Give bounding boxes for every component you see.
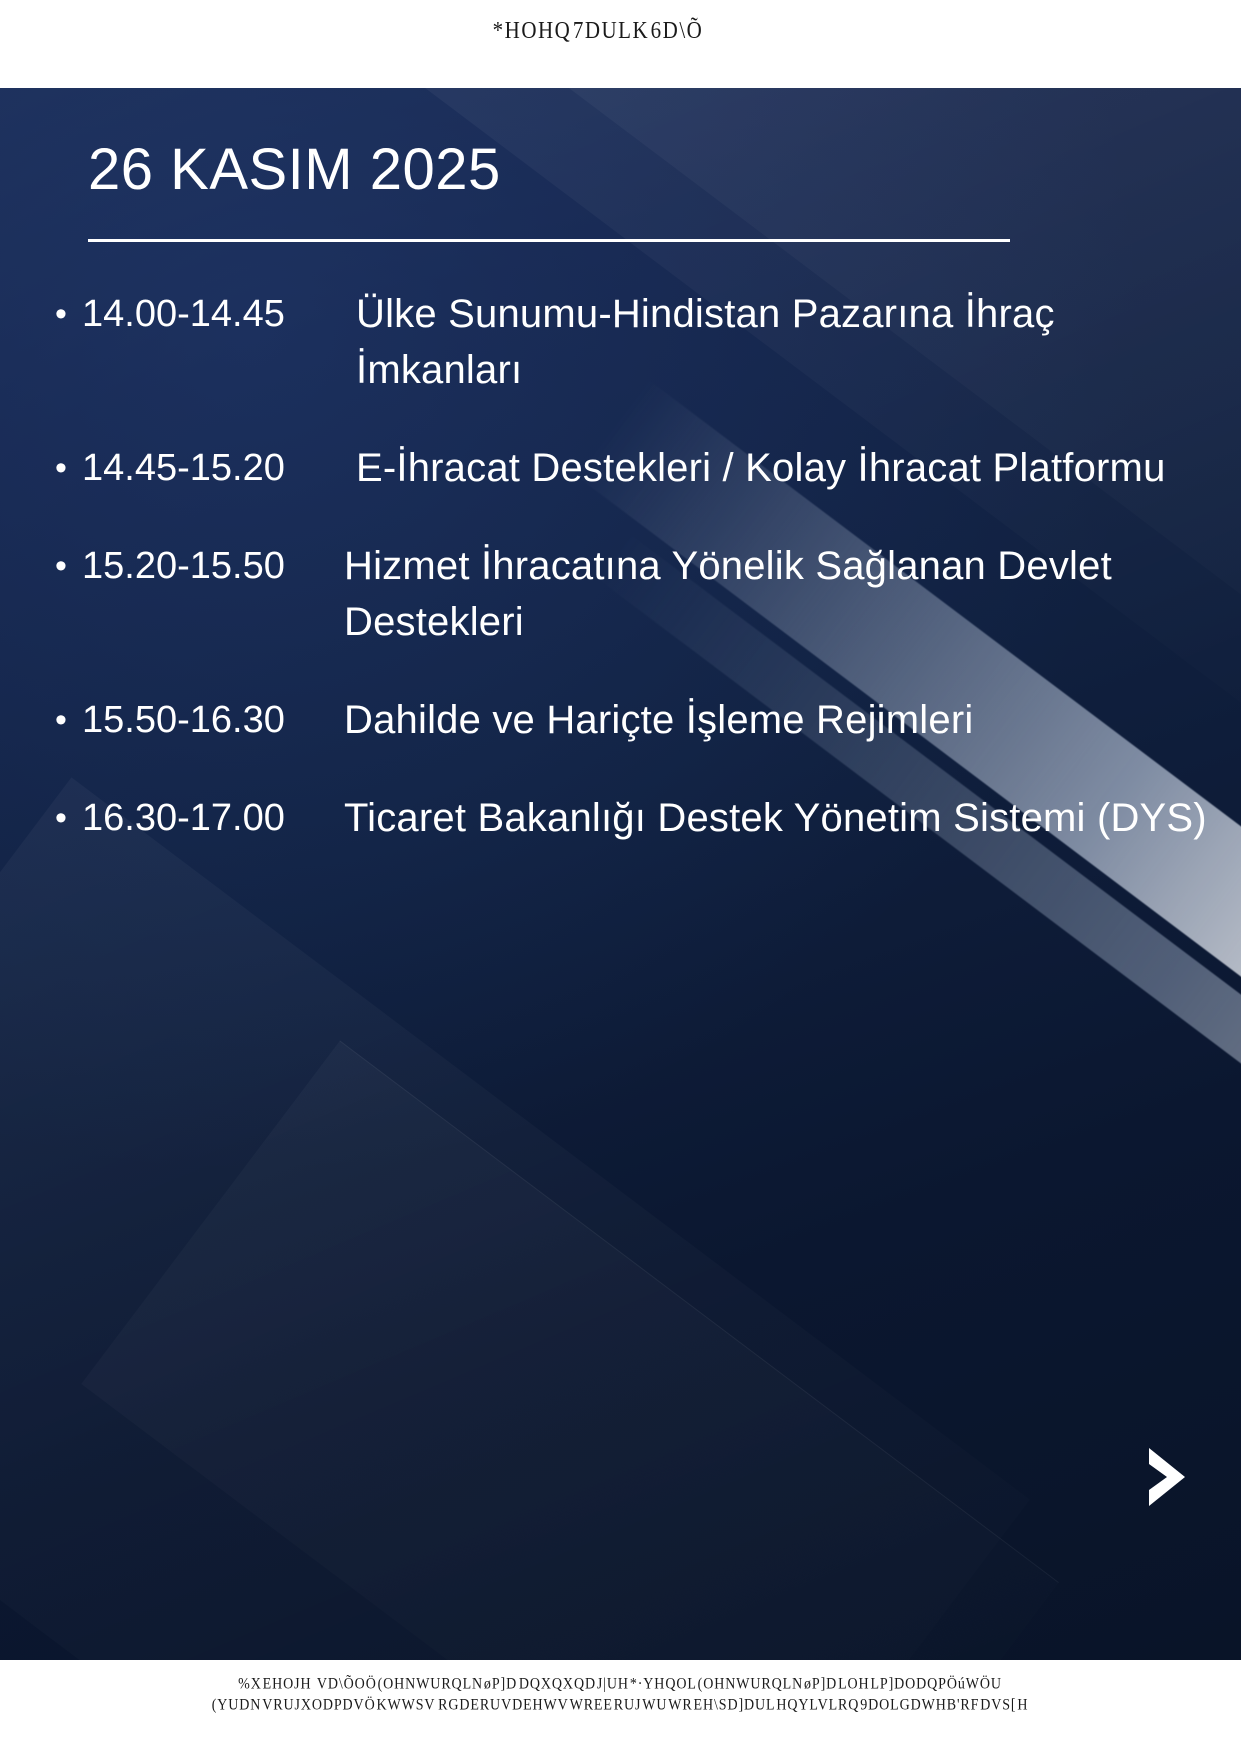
bullet-icon: • [40, 538, 82, 594]
bullet-icon: • [40, 440, 82, 496]
agenda-list: • 14.00-14.45 Ülke Sunumu-Hindistan Paza… [40, 286, 1220, 888]
footer-encoded-line-2: (YUDNVRUJXODPDVÖKWWSVRGDERUVDEHWVW… [0, 1694, 1241, 1717]
title-divider [88, 239, 1010, 242]
page-title: 26 KASIM 2025 [88, 140, 1118, 201]
slide-page: *HOHQ7DULK6D\Õ… [0, 0, 1241, 1755]
bullet-icon: • [40, 286, 82, 342]
agenda-topic: Hizmet İhracatına Yönelik Sağlanan Devle… [344, 538, 1220, 650]
list-item: • 15.50-16.30 Dahilde ve Hariçte İşleme … [40, 692, 1220, 748]
list-item: • 14.00-14.45 Ülke Sunumu-Hindistan Paza… [40, 286, 1220, 398]
document-header: *HOHQ7DULK6D\Õ… [0, 0, 1241, 88]
agenda-time: 14.00-14.45 [82, 286, 344, 342]
bullet-icon: • [40, 790, 82, 846]
agenda-topic: E-İhracat Destekleri / Kolay İhracat Pla… [344, 440, 1220, 496]
list-item: • 15.20-15.50 Hizmet İhracatına Yönelik … [40, 538, 1220, 650]
footer-encoded-line-1: %XEHOJHVD\ÕOÖ(OHNWURQLNøP]DDQ… [0, 1673, 1241, 1696]
agenda-time: 15.20-15.50 [82, 538, 344, 594]
list-item: • 16.30-17.00 Ticaret Bakanlığı Destek Y… [40, 790, 1220, 846]
document-footer: %XEHOJHVD\ÕOÖ(OHNWURQLNøP]DDQ… [0, 1660, 1241, 1755]
agenda-topic: Dahilde ve Hariçte İşleme Rejimleri [344, 692, 1220, 748]
slide-body: 26 KASIM 2025 • 14.00-14.45 Ülke Sunumu-… [0, 88, 1241, 1660]
agenda-topic: Ülke Sunumu-Hindistan Pazarına İhraç İmk… [344, 286, 1220, 398]
agenda-topic: Ticaret Bakanlığı Destek Yönetim Sistemi… [344, 790, 1220, 846]
agenda-time: 14.45-15.20 [82, 440, 344, 496]
arrow-right-icon[interactable] [1143, 1446, 1189, 1508]
header-encoded-title: *HOHQ7DULK6D\Õ… [493, 16, 749, 45]
bullet-icon: • [40, 692, 82, 748]
list-item: • 14.45-15.20 E-İhracat Destekleri / Kol… [40, 440, 1220, 496]
agenda-time: 15.50-16.30 [82, 692, 344, 748]
agenda-time: 16.30-17.00 [82, 790, 344, 846]
title-block: 26 KASIM 2025 [88, 140, 1118, 242]
